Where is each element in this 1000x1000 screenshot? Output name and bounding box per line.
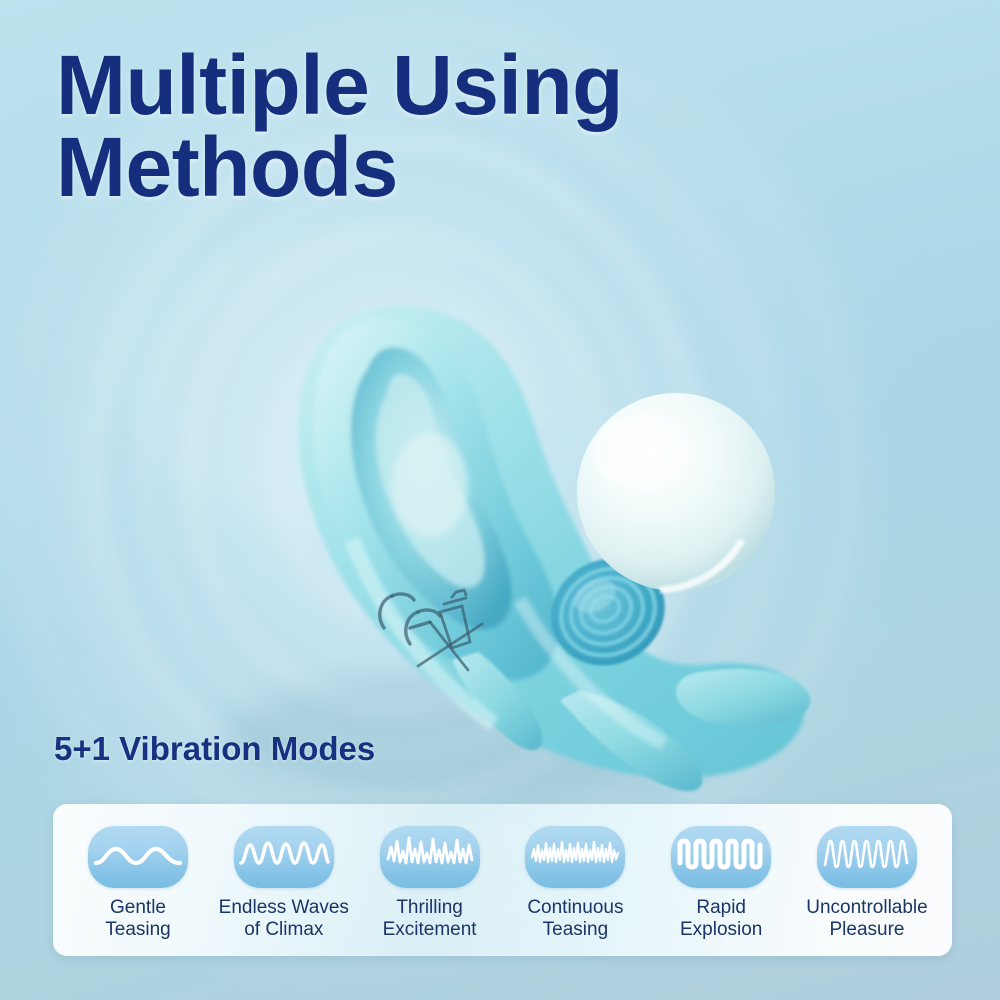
mode-label: Gentle Teasing [105, 897, 171, 942]
thrilling-spikes-icon [380, 826, 480, 888]
mode-label: Uncontrollable Pleasure [806, 897, 927, 942]
mode-card-rapid-explosion[interactable]: Rapid Explosion [650, 814, 792, 946]
continuous-dense-wave-icon [525, 826, 625, 888]
weee-bin-engraving [418, 590, 482, 670]
mode-card-gentle-teasing[interactable]: Gentle Teasing [67, 814, 209, 946]
headline-line-2: Methods [56, 126, 816, 208]
ce-engraving [380, 594, 440, 644]
mode-label: Continuous Teasing [527, 897, 623, 942]
headline-line-1: Multiple Using [56, 38, 623, 132]
mode-card-uncontrollable-pleasure[interactable]: Uncontrollable Pleasure [796, 814, 938, 946]
uncontrollable-coil-icon [817, 826, 917, 888]
mode-card-endless-waves[interactable]: Endless Waves of Climax [213, 814, 355, 946]
page-title: Multiple Using Methods [56, 44, 816, 209]
gentle-wave-icon [88, 826, 188, 888]
mode-label: Thrilling Excitement [383, 897, 477, 942]
endless-waves-icon [234, 826, 334, 888]
product-marketing-image: Multiple Using Methods 5+1 Vibration Mod… [0, 0, 1000, 1000]
rapid-square-pulse-icon [671, 826, 771, 888]
vibration-modes-subtitle: 5+1 Vibration Modes [54, 730, 375, 768]
mode-card-thrilling-excitement[interactable]: Thrilling Excitement [359, 814, 501, 946]
vibration-modes-panel: Gentle Teasing Endless Waves of Climax T… [53, 804, 952, 956]
mode-label: Rapid Explosion [680, 897, 762, 942]
mode-label: Endless Waves of Climax [219, 897, 349, 942]
mode-card-continuous-teasing[interactable]: Continuous Teasing [504, 814, 646, 946]
